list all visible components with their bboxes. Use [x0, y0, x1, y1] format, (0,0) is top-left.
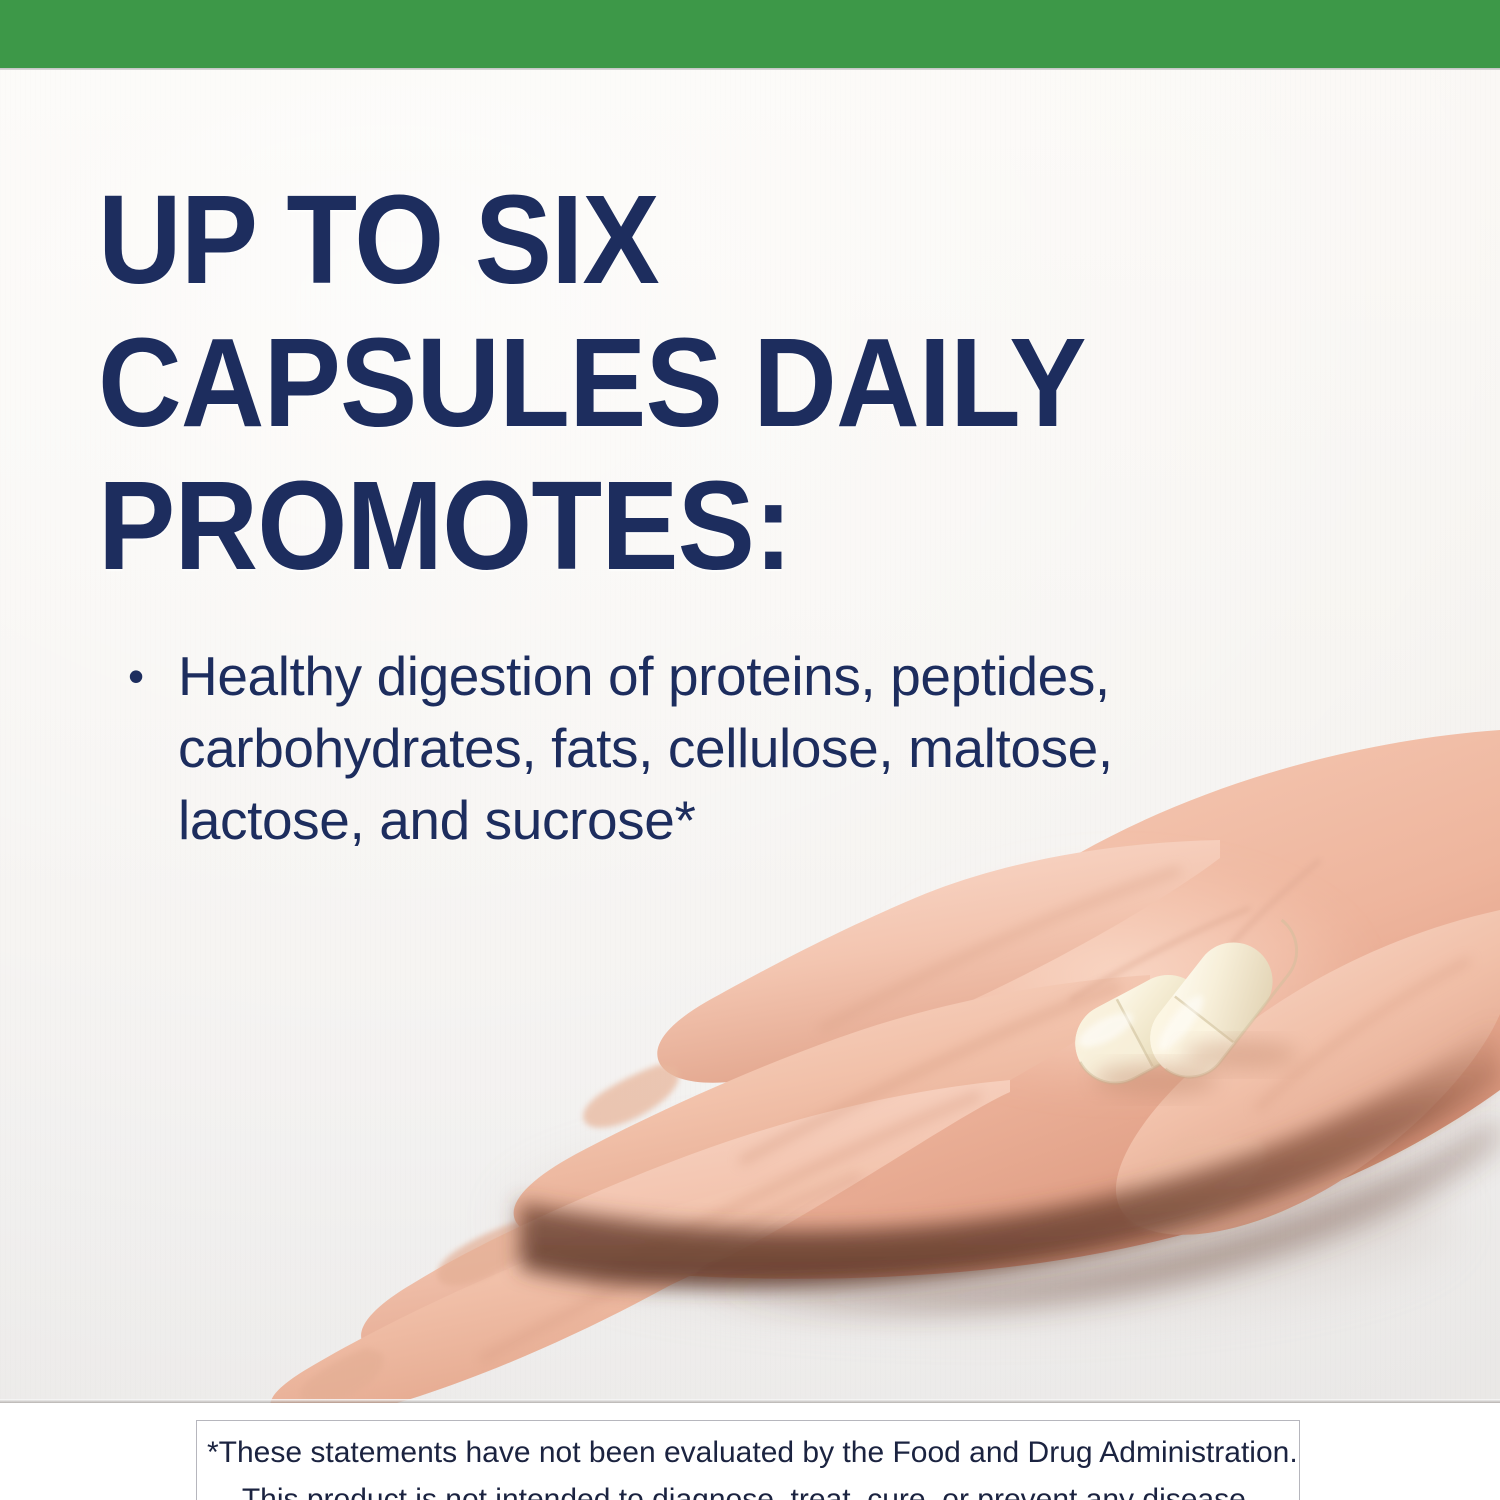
- photo-bottom-edge: [0, 1399, 1500, 1403]
- page-title: UP TO SIX CAPSULES DAILY PROMOTES:: [98, 168, 1128, 597]
- benefits-list: • Healthy digestion of proteins, peptide…: [122, 640, 1252, 856]
- disclaimer-line-1: *These statements have not been evaluate…: [207, 1429, 1289, 1476]
- disclaimer-line-2: This product is not intended to diagnose…: [207, 1476, 1289, 1500]
- capsule-right-shadow: [1182, 1040, 1298, 1070]
- fda-disclaimer-box: *These statements have not been evaluate…: [196, 1420, 1300, 1500]
- headline-line-2: CAPSULES DAILY: [98, 311, 1128, 454]
- capsule-left-shadow: [1093, 1064, 1217, 1096]
- headline-line-1: UP TO SIX: [98, 168, 1128, 311]
- headline-line-3: PROMOTES:: [98, 454, 1128, 597]
- top-green-band: [0, 0, 1500, 68]
- product-info-card: UP TO SIX CAPSULES DAILY PROMOTES: • Hea…: [0, 0, 1500, 1500]
- bullet-dot-icon: •: [122, 640, 178, 712]
- list-item: • Healthy digestion of proteins, peptide…: [122, 640, 1252, 856]
- list-item-label: Healthy digestion of proteins, peptides,…: [178, 640, 1238, 856]
